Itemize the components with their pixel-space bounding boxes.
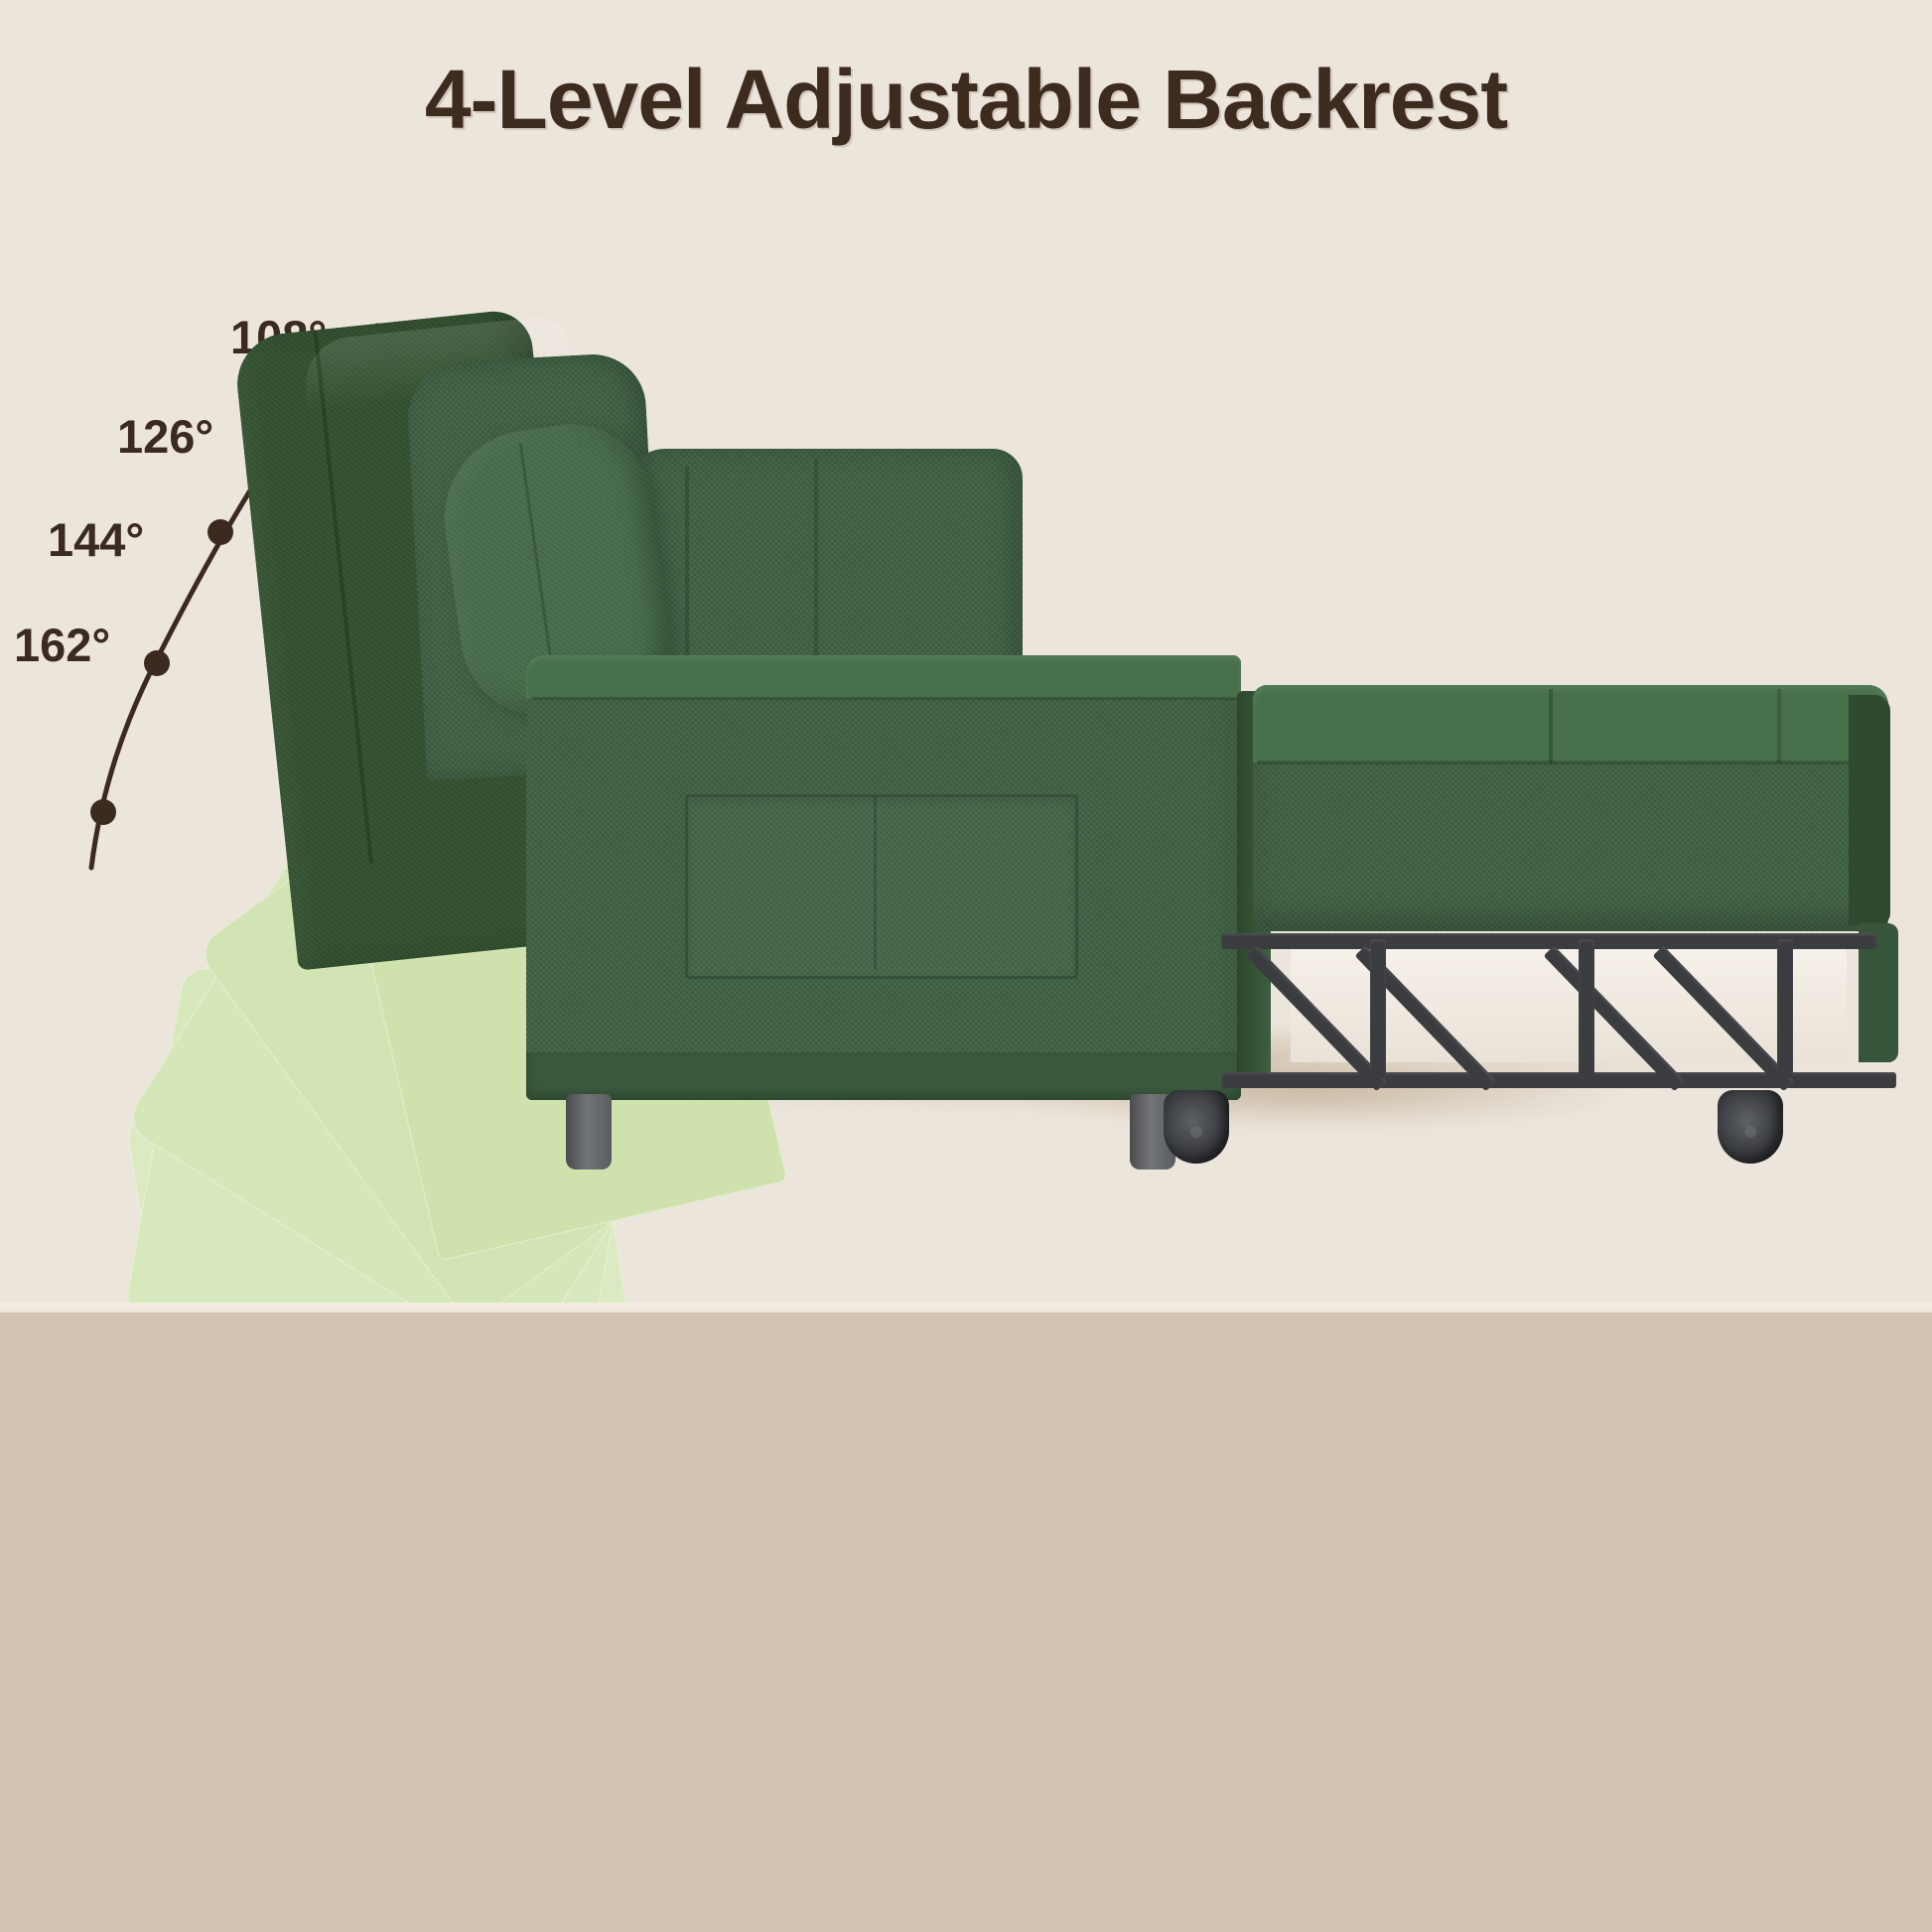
frame-post-3 [1777,939,1793,1078]
frame-post-1 [1370,939,1386,1078]
bed-seam-horizontal [1257,760,1884,764]
caster-wheel-front [1164,1090,1229,1164]
bed-right-face [1849,695,1890,925]
bed-extension-top-rail [1253,685,1888,762]
frame-bar-bottom [1221,1072,1896,1088]
bed-seam-vertical-1 [1549,689,1553,762]
caster-wheel-rear [1718,1090,1783,1164]
use-scenarios-section: Watch TV Sleeping Play Game [0,1312,1932,1932]
armrest-top-rail [526,655,1241,699]
side-storage-pocket [685,794,1078,979]
sofa-bed-product-image [0,0,1932,1312]
bed-seam-vertical-2 [1777,689,1781,762]
armrest-bottom-rail [526,1052,1241,1100]
metal-support-frame [1221,923,1906,1112]
side-storage-pocket-divider [874,797,877,970]
sofa-leg-front [566,1094,612,1170]
armrest-top-rail-seam [532,697,1239,700]
backrest-angle-section: 4-Level Adjustable Backrest 108° 126° 14… [0,0,1932,1312]
frame-post-2 [1579,939,1594,1078]
